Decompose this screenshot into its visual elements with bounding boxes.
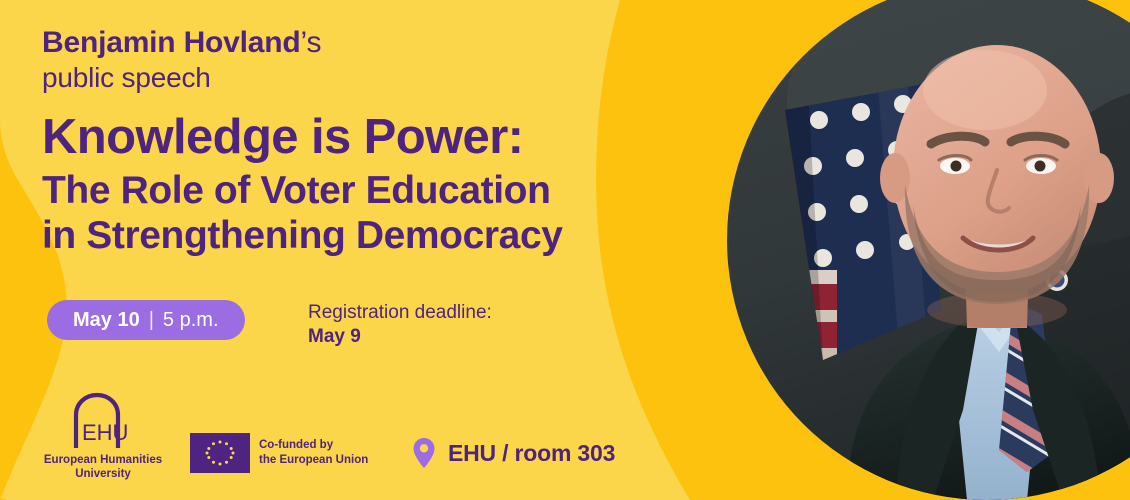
speaker-name: Benjamin Hovland [42, 26, 301, 59]
speaker-possessive: ’s [301, 26, 322, 59]
eu-cofunding-logo: Co-funded by the European Union [190, 433, 368, 473]
eu-caption-line-2: the European Union [259, 453, 368, 468]
map-pin-icon [412, 437, 436, 469]
ehu-logo: EHU European Humanities University [38, 392, 168, 482]
deadline-label: Registration deadline: [308, 301, 492, 325]
eu-caption-line-1: Co-funded by [259, 438, 368, 453]
headline-line-3: in Strengthening Democracy [42, 215, 563, 256]
headline-line-2: The Role of Voter Education [42, 170, 563, 211]
event-banner: Benjamin Hovland’s public speech Knowled… [0, 0, 1130, 500]
headline-line-1: Knowledge is Power: [42, 112, 563, 164]
ehu-caption: European Humanities University [38, 453, 168, 482]
ehu-caption-line-2: University [75, 468, 131, 480]
eu-flag-icon [190, 433, 250, 473]
ehu-arch-logo-icon: EHU [70, 392, 136, 448]
event-date: May 10 [73, 309, 140, 332]
event-time: 5 p.m. [163, 309, 219, 332]
speaker-subtitle: public speech [42, 62, 321, 93]
eu-caption: Co-funded by the European Union [259, 438, 368, 468]
speaker-name-line: Benjamin Hovland’s [42, 26, 321, 60]
page-title: Knowledge is Power: The Role of Voter Ed… [42, 112, 563, 257]
registration-deadline: Registration deadline: May 9 [308, 301, 492, 349]
speaker-kicker: Benjamin Hovland’s public speech [42, 26, 321, 93]
badge-separator: | [149, 309, 154, 332]
venue-block: EHU / room 303 [412, 437, 615, 469]
ehu-mark-text: EHU [82, 420, 128, 445]
deadline-date: May 9 [308, 325, 492, 349]
ehu-caption-line-1: European Humanities [44, 454, 162, 466]
date-time-badge: May 10 | 5 p.m. [47, 300, 245, 340]
venue-label: EHU / room 303 [448, 440, 615, 467]
